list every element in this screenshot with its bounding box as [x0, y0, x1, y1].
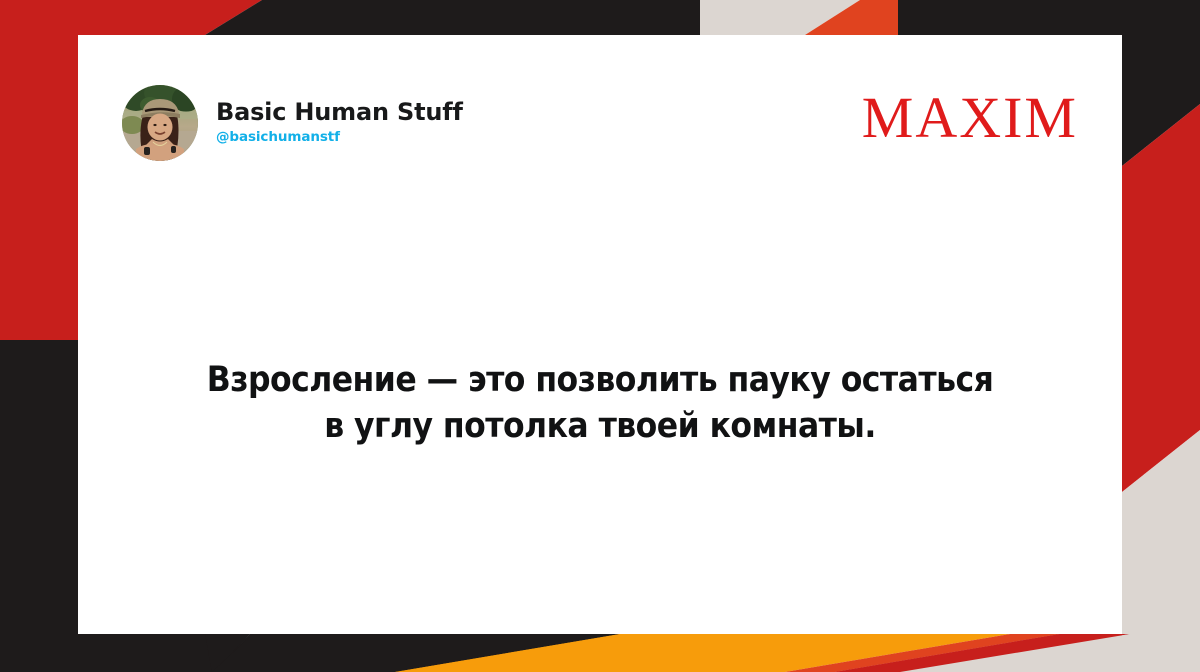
quote-text: Взросление — это позволить пауку остатьс…: [184, 357, 1016, 449]
shape-top-right-black: [898, 0, 1200, 35]
maxim-logo: MAXIM: [862, 89, 1078, 147]
quote-card: Basic Human Stuff @basichumanstf MAXIM В…: [78, 35, 1122, 622]
quote-line-2: в углу потолка твоей комнаты.: [184, 403, 1016, 449]
author-text: Basic Human Stuff @basichumanstf: [216, 100, 463, 145]
quote-line-1: Взросление — это позволить пауку остатьс…: [184, 357, 1016, 403]
shape-left-black: [0, 340, 78, 634]
screenshot-canvas: Basic Human Stuff @basichumanstf MAXIM В…: [0, 0, 1200, 672]
card-header: Basic Human Stuff @basichumanstf MAXIM: [122, 85, 1078, 177]
shape-left-red: [0, 35, 78, 340]
author-name: Basic Human Stuff: [216, 100, 463, 125]
author-block[interactable]: Basic Human Stuff @basichumanstf: [122, 85, 463, 161]
author-handle[interactable]: @basichumanstf: [216, 130, 463, 144]
avatar[interactable]: [122, 85, 198, 161]
shape-right-red-parallelogram: [1122, 104, 1200, 492]
shape-bottom-left-fill: [0, 634, 212, 672]
shape-top-black: [205, 0, 700, 35]
